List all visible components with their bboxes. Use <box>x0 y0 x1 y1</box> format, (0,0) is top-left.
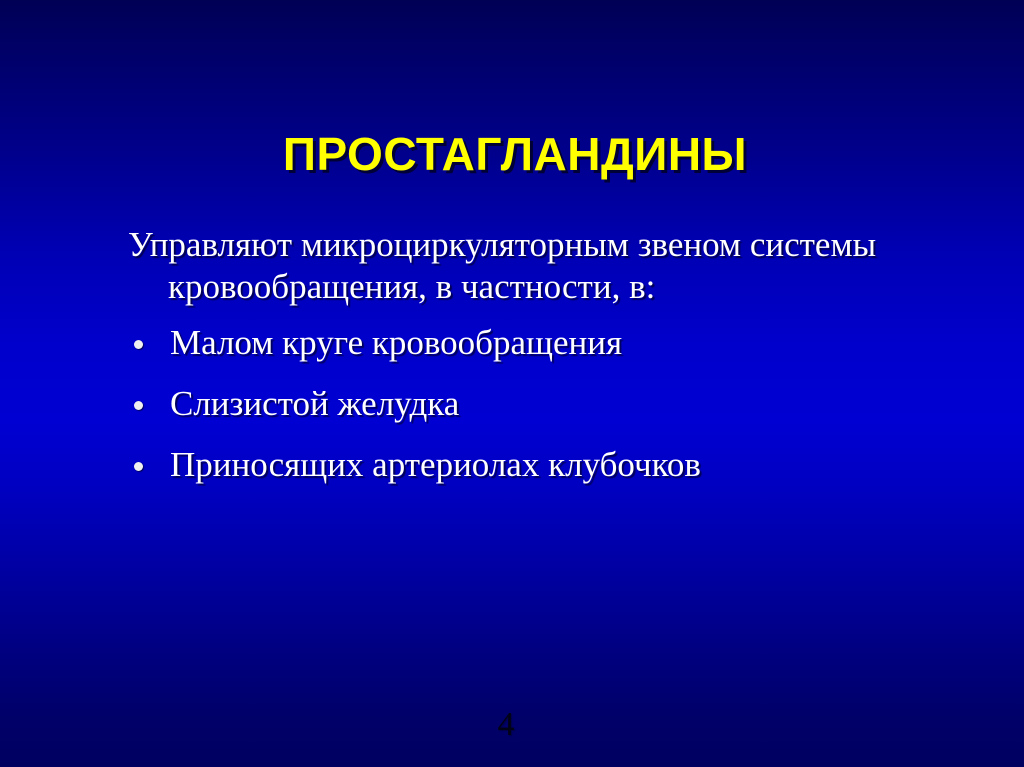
list-item: Приносящих артериолах клубочков <box>112 444 942 486</box>
bullet-point-icon <box>134 340 143 349</box>
list-item-label: Приносящих артериолах клубочков <box>170 445 701 484</box>
page-title: ПРОСТАГЛАНДИНЫ <box>283 128 747 180</box>
slide-title-block: ПРОСТАГЛАНДИНЫ <box>70 97 960 211</box>
lead-paragraph: Управляют микроциркуляторным звеном сист… <box>112 224 942 308</box>
bullet-point-icon <box>134 401 143 410</box>
list-item-label: Слизистой желудка <box>170 384 459 423</box>
slide-body-block: Управляют микроциркуляторным звеном сист… <box>112 224 942 486</box>
bullet-list: Малом круге кровообращения Слизистой жел… <box>112 322 942 486</box>
slide-canvas: ПРОСТАГЛАНДИНЫ Управляют микроциркулятор… <box>0 0 1024 767</box>
page-number: 4 <box>0 706 1024 744</box>
list-item: Слизистой желудка <box>112 383 942 425</box>
list-item: Малом круге кровообращения <box>112 322 942 364</box>
list-item-label: Малом круге кровообращения <box>170 323 622 362</box>
bullet-point-icon <box>134 462 143 471</box>
